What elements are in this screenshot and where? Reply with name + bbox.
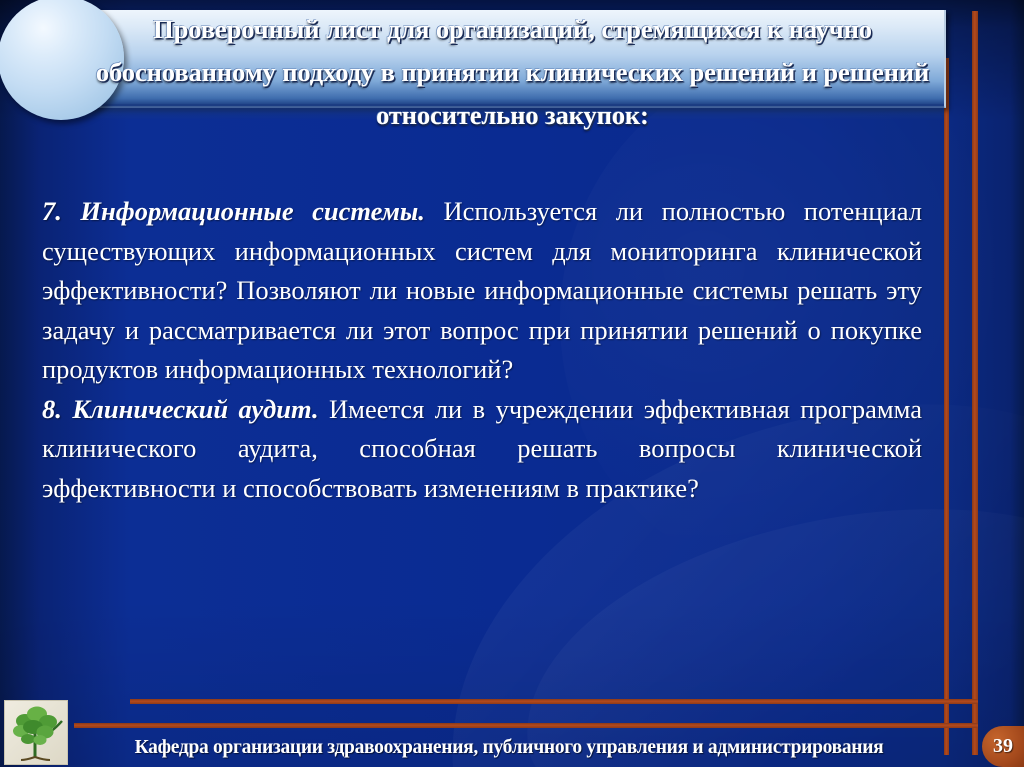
paragraph-7-lead: 7. Информационные системы.: [42, 196, 425, 226]
body-paragraph-8: 8. Клинический аудит. Имеется ли в учреж…: [42, 390, 922, 509]
vertical-accent-line-inner: [944, 58, 949, 755]
footer-accent-line-top: [130, 699, 978, 704]
tree-plant-icon: [4, 700, 68, 765]
presentation-slide: Проверочный лист для организаций, стремя…: [0, 0, 1024, 767]
slide-body: 7. Информационные системы. Используется …: [42, 192, 922, 508]
paragraph-8-lead: 8. Клинический аудит.: [42, 394, 319, 424]
body-paragraph-7: 7. Информационные системы. Используется …: [42, 192, 922, 390]
footer-accent-line-bottom: [74, 723, 978, 728]
page-number-badge: 39: [982, 726, 1024, 767]
footer-department-label: Кафедра организации здравоохранения, пуб…: [74, 731, 944, 765]
slide-title: Проверочный лист для организаций, стремя…: [90, 8, 935, 137]
background-swoosh-decoration-2: [500, 473, 1024, 767]
vertical-accent-line-outer: [972, 11, 978, 755]
